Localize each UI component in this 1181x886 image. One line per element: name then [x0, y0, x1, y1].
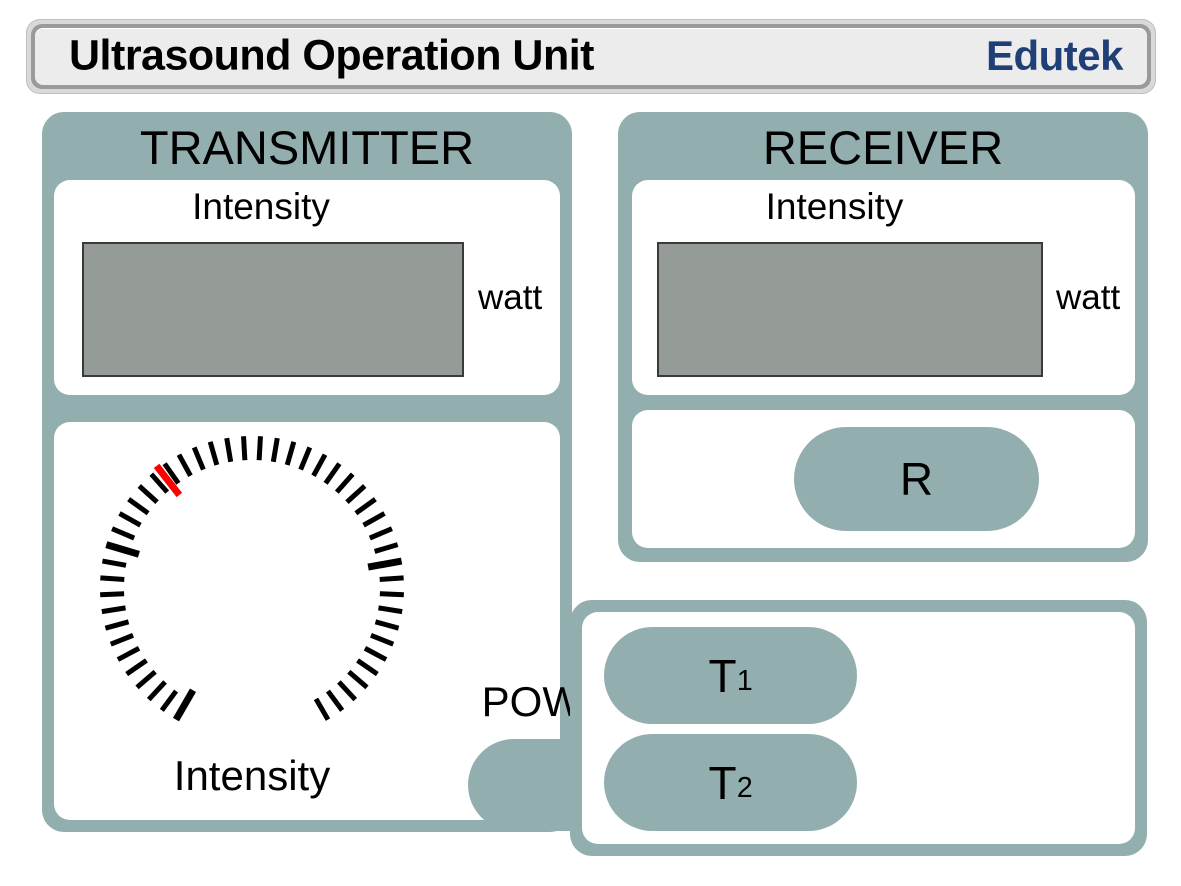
- title-bar-face: Ultrasound Operation Unit Edutek: [35, 28, 1147, 85]
- receiver-intensity-display: [657, 242, 1043, 377]
- receiver-panel: RECEIVER Intensity watt R: [618, 112, 1148, 562]
- title-bar-bevel: Ultrasound Operation Unit Edutek: [31, 24, 1151, 89]
- transmitter-control-card: Intensity POWER: [54, 422, 560, 820]
- transducer-button-t2-subscript: 2: [737, 772, 753, 805]
- transducer-button-t1-subscript: 1: [737, 665, 753, 698]
- brand-logo: Edutek: [986, 32, 1123, 80]
- transmitter-intensity-card: Intensity watt: [54, 180, 560, 395]
- ultrasound-operation-unit-window: Ultrasound Operation Unit Edutek TRANSMI…: [0, 0, 1181, 886]
- transmitter-intensity-display: [82, 242, 464, 377]
- receiver-heading: RECEIVER: [618, 120, 1148, 175]
- transducer-panel: T1 T2: [570, 600, 1147, 856]
- receiver-intensity-label: Intensity: [632, 186, 1135, 228]
- page-title: Ultrasound Operation Unit: [69, 31, 594, 80]
- receiver-select-button[interactable]: R: [794, 427, 1039, 531]
- receiver-intensity-card: Intensity watt: [632, 180, 1135, 395]
- transducer-button-t1[interactable]: T1: [604, 627, 857, 724]
- transducer-button-t2[interactable]: T2: [604, 734, 857, 831]
- intensity-dial-svg[interactable]: [82, 430, 422, 760]
- intensity-dial[interactable]: [82, 430, 422, 760]
- transmitter-intensity-unit: watt: [478, 278, 542, 318]
- transducer-button-card: T1 T2: [582, 612, 1135, 844]
- intensity-dial-caption: Intensity: [82, 752, 422, 800]
- dial-tick-marks: [100, 436, 404, 719]
- transmitter-panel: TRANSMITTER Intensity watt Intensity POW…: [42, 112, 572, 832]
- transmitter-heading: TRANSMITTER: [42, 120, 572, 175]
- receiver-intensity-unit: watt: [1056, 278, 1120, 318]
- receiver-button-card: R: [632, 410, 1135, 548]
- transducer-button-t1-label: T: [709, 649, 737, 703]
- title-bar: Ultrasound Operation Unit Edutek: [26, 19, 1156, 94]
- transducer-button-t2-label: T: [709, 756, 737, 810]
- transmitter-intensity-label: Intensity: [54, 186, 560, 228]
